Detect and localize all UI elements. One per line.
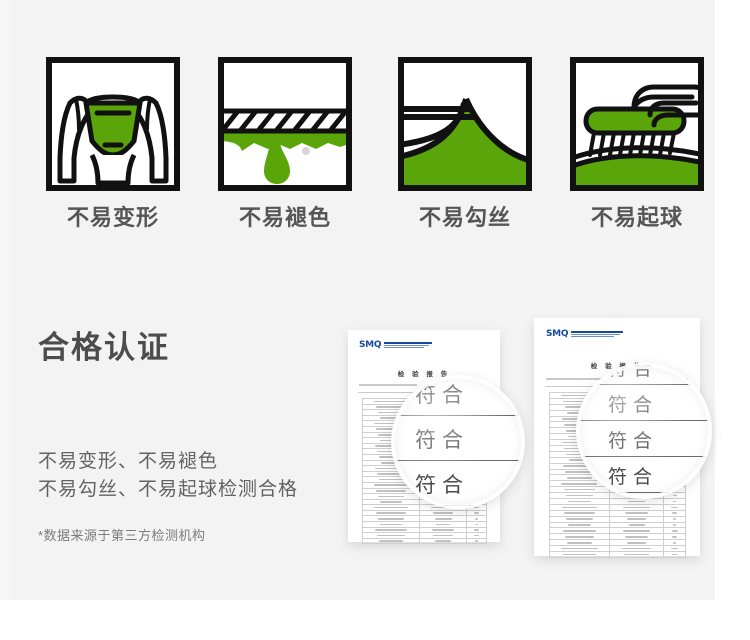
- magnifier-table-row: [578, 493, 710, 497]
- brush-fabric-icon: [570, 57, 704, 191]
- report-table-cell: [550, 505, 610, 510]
- feature-anti-snag: 不易勾丝: [398, 57, 532, 231]
- feature-anti-deform: 不易变形: [46, 57, 180, 231]
- magnifier-report-2: 符合符合符合符合符合: [578, 365, 710, 497]
- feature-label: 不易勾丝: [398, 205, 532, 231]
- certification-line: 不易勾丝、不易起球检测合格: [38, 476, 298, 504]
- report-table-cell: [550, 552, 610, 557]
- smq-logo-subtitle: [571, 331, 623, 337]
- magnifier-result-text: 符合: [608, 462, 658, 489]
- report-table-cell: [664, 517, 686, 522]
- report-table-cell: [420, 533, 467, 538]
- report-table-cell: [467, 533, 487, 538]
- report-table-cell: [664, 552, 686, 557]
- stretch-briefs-icon: [46, 57, 180, 191]
- magnifier-result-text: 符合: [415, 424, 469, 454]
- smq-logo: SMQ: [546, 329, 623, 339]
- report-table-cell: [420, 516, 467, 521]
- report-table-cell: [610, 534, 664, 539]
- report-table-cell: [610, 499, 664, 504]
- report-table-cell: [664, 540, 686, 545]
- dripping-dye-icon: [218, 57, 352, 191]
- feature-anti-fade: 不易褪色: [218, 57, 352, 231]
- report-table-cell: [420, 539, 467, 544]
- report-table-cell: [664, 511, 686, 516]
- magnifier-result-text: 符合: [415, 469, 469, 499]
- report-table-cell: [664, 534, 686, 539]
- smq-logo-text: SMQ: [546, 329, 568, 339]
- report-table-cell: [610, 517, 664, 522]
- report-table-cell: [363, 539, 420, 544]
- report-table-cell: [467, 511, 487, 516]
- feature-row: 不易变形: [0, 0, 750, 250]
- report-table-cell: [363, 511, 420, 516]
- magnifier-result-text: 符合: [608, 365, 658, 381]
- report-table-cell: [420, 522, 467, 527]
- report-table-cell: [610, 505, 664, 510]
- report-table-row: [363, 539, 487, 545]
- report-table-cell: [363, 516, 420, 521]
- report-table-cell: [550, 534, 610, 539]
- report-table-cell: [363, 528, 420, 533]
- report-table-cell: [550, 511, 610, 516]
- report-table-cell: [363, 522, 420, 527]
- report-table-cell: [610, 546, 664, 551]
- report-table-cell: [420, 528, 467, 533]
- smq-logo: SMQ: [359, 340, 432, 350]
- report-table-cell: [664, 499, 686, 504]
- product-detail-page: 不易变形: [0, 0, 750, 640]
- magnifier-result-text: 符合: [608, 426, 658, 453]
- smq-logo-text: SMQ: [359, 340, 381, 350]
- report-table-cell: [550, 540, 610, 545]
- report-table-cell: [363, 533, 420, 538]
- report-table-cell: [664, 523, 686, 528]
- snag-pull-icon: [398, 57, 532, 191]
- magnifier-result-text: 符合: [608, 390, 658, 417]
- certification-title: 合格认证: [38, 322, 170, 367]
- feature-anti-pilling: 不易起球: [570, 57, 704, 231]
- feature-label: 不易变形: [46, 205, 180, 231]
- feature-label: 不易褪色: [218, 205, 352, 231]
- certification-line: 不易变形、不易褪色: [38, 448, 298, 476]
- report-table-cell: [610, 540, 664, 545]
- report-table-cell: [550, 499, 610, 504]
- feature-label: 不易起球: [570, 205, 704, 231]
- report-table-cell: [610, 523, 664, 528]
- report-table-cell: [420, 511, 467, 516]
- report-table-cell: [610, 552, 664, 557]
- certification-body: 不易变形、不易褪色 不易勾丝、不易起球检测合格: [38, 448, 298, 504]
- report-table-cell: [610, 528, 664, 533]
- magnifier-report-1: 符合符合符合: [393, 377, 523, 507]
- report-table-cell: [664, 528, 686, 533]
- report-table-cell: [664, 505, 686, 510]
- certification-note: *数据来源于第三方检测机构: [38, 525, 206, 544]
- report-table-cell: [467, 539, 487, 544]
- report-table-cell: [550, 546, 610, 551]
- smq-logo-subtitle: [384, 342, 432, 348]
- magnifier-result-text: 符合: [415, 379, 469, 409]
- report-table-cell: [550, 523, 610, 528]
- report-table-cell: [467, 522, 487, 527]
- report-table-cell: [467, 528, 487, 533]
- report-table-cell: [664, 546, 686, 551]
- report-table-cell: [550, 517, 610, 522]
- report-table-cell: [610, 511, 664, 516]
- report-table-cell: [467, 516, 487, 521]
- report-table-row: [550, 552, 686, 558]
- report-table-cell: [550, 528, 610, 533]
